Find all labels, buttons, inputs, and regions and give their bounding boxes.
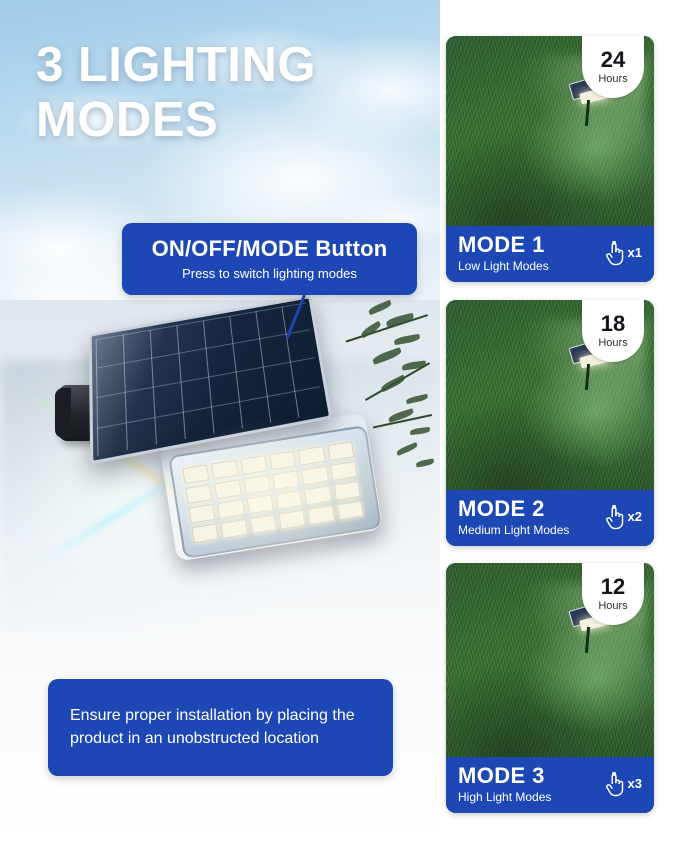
- mode-card-1: 24 Hours MODE 1 Low Light Modes x1: [446, 36, 654, 282]
- callout-installation: Ensure proper installation by placing th…: [48, 679, 393, 776]
- runtime-badge: 12 Hours: [582, 563, 644, 625]
- mode-subtitle: Low Light Modes: [458, 259, 549, 273]
- product-infographic: 3 LIGHTING MODES ON/OFF/MODE Button Pres…: [0, 0, 679, 849]
- mode-subtitle: Medium Light Modes: [458, 523, 569, 537]
- page-title: 3 LIGHTING MODES: [36, 38, 426, 148]
- solar-lamp-illustration: [55, 300, 385, 590]
- runtime-badge: 18 Hours: [582, 300, 644, 362]
- tap-count: x1: [628, 245, 642, 260]
- runtime-badge: 24 Hours: [582, 36, 644, 98]
- callout-installation-text: Ensure proper installation by placing th…: [48, 705, 393, 750]
- runtime-hours-value: 24: [601, 49, 625, 71]
- tap-hand-icon: [604, 504, 626, 530]
- runtime-hours-label: Hours: [598, 600, 627, 612]
- mode-card-2: 18 Hours MODE 2 Medium Light Modes x2: [446, 300, 654, 546]
- runtime-hours-label: Hours: [598, 337, 627, 349]
- callout-mode-title: ON/OFF/MODE Button: [152, 237, 388, 261]
- mode-title: MODE 3: [458, 764, 551, 787]
- tap-hand-icon: [604, 240, 626, 266]
- tap-count: x3: [628, 776, 642, 791]
- mode-card-3: 12 Hours MODE 3 High Light Modes x3: [446, 563, 654, 813]
- tap-hand-icon: [604, 771, 626, 797]
- card-footer: MODE 3 High Light Modes x3: [446, 757, 654, 813]
- lamp-mount-cap: [55, 388, 71, 438]
- mode-title: MODE 2: [458, 497, 569, 520]
- mode-subtitle: High Light Modes: [458, 790, 551, 804]
- mode-title: MODE 1: [458, 233, 549, 256]
- runtime-hours-label: Hours: [598, 73, 627, 85]
- hero-photo: 3 LIGHTING MODES ON/OFF/MODE Button Pres…: [0, 0, 440, 849]
- runtime-hours-value: 18: [601, 313, 625, 335]
- card-footer: MODE 1 Low Light Modes x1: [446, 226, 654, 282]
- tap-count: x2: [628, 509, 642, 524]
- callout-mode-subtitle: Press to switch lighting modes: [182, 266, 357, 281]
- led-grid: [182, 441, 364, 543]
- callout-mode-button: ON/OFF/MODE Button Press to switch light…: [122, 223, 417, 295]
- runtime-hours-value: 12: [601, 576, 625, 598]
- card-footer: MODE 2 Medium Light Modes x2: [446, 490, 654, 546]
